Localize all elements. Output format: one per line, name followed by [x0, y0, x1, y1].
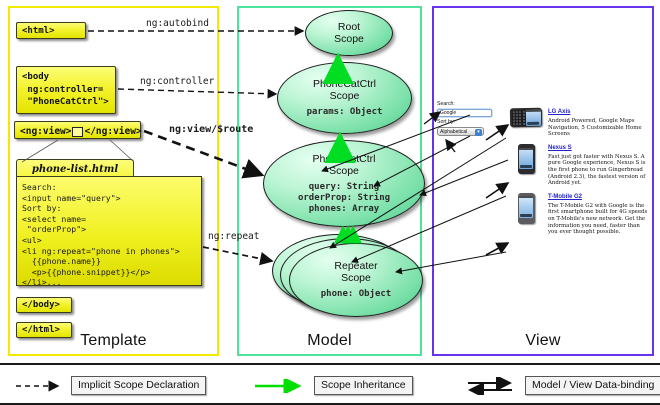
phone-thumbnail-lg-axis: [508, 108, 544, 138]
sort-by-select[interactable]: Alphabetical ▾: [437, 127, 484, 136]
wire-label-ng-autobind: ng:autobind: [146, 18, 209, 29]
phone-info: LG Axis Android Powered, Google Maps Nav…: [544, 108, 650, 138]
list-item[interactable]: Nexus S Fast just got faster with Nexus …: [508, 144, 650, 187]
scope-phonecatctrl-props: params: Object: [307, 107, 383, 118]
list-item[interactable]: LG Axis Android Powered, Google Maps Nav…: [508, 108, 650, 138]
scope-repeater-props: phone: Object: [321, 289, 391, 300]
wire-label-ng-view-route: ng:view/$route: [169, 124, 253, 135]
html-close-tag-box: </html>: [16, 322, 72, 338]
lg-axis-handset-icon: [510, 108, 542, 128]
app-dock: [520, 165, 532, 168]
phone-list: LG Axis Android Powered, Google Maps Nav…: [508, 108, 650, 242]
wire-label-ng-controller: ng:controller: [140, 76, 214, 87]
ngview-tag-box: <ng:view></ng:view>: [14, 121, 141, 139]
legend-item-implicit-scope-declaration: Implicit Scope Declaration: [14, 376, 206, 395]
sort-by-selected-value: Alphabetical: [440, 129, 467, 135]
status-bar: [519, 196, 533, 198]
html-open-tag-box: <html>: [16, 22, 86, 39]
phone-thumbnail-t-mobile-g2: [508, 193, 544, 236]
phone-info: Nexus S Fast just got faster with Nexus …: [544, 144, 650, 187]
scope-repeater: Repeater Scope phone: Object: [289, 243, 423, 317]
legend-label-implicit-scope-declaration: Implicit Scope Declaration: [71, 376, 206, 395]
legend-item-scope-inheritance: Scope Inheritance: [253, 376, 413, 395]
legend-item-data-binding: Model / View Data-binding: [466, 376, 660, 395]
ngview-close-tag: </ng:view>: [84, 126, 141, 137]
ngview-slot-icon: [72, 127, 83, 137]
t-mobile-g2-handset-icon: [518, 193, 535, 224]
handset-screen: [519, 196, 533, 218]
scope-repeater-title: Repeater Scope: [334, 260, 377, 284]
dashed-arrow-icon: [14, 379, 66, 393]
phone-snippet: Android Powered, Google Maps Navigation,…: [548, 118, 650, 138]
wire-label-ng-repeat: ng:repeat: [208, 231, 259, 242]
slideout-keyboard-icon: [511, 110, 525, 126]
scope-phonecatctrl: PhoneCatCtrl Scope params: Object: [277, 62, 412, 134]
phone-list-note-code: Search: <input name="query"> Sort by: <s…: [16, 176, 202, 286]
column-label-model: Model: [239, 332, 420, 350]
phone-name-link[interactable]: LG Axis: [548, 108, 650, 116]
scope-phonecatctrl-title: PhoneCatCtrl Scope: [313, 78, 376, 102]
phone-snippet: Fast just got faster with Nexus S. A pur…: [548, 154, 650, 187]
nexus-s-handset-icon: [518, 144, 535, 174]
handset-screen: [525, 109, 540, 125]
app-dock: [527, 121, 540, 124]
legend-label-data-binding: Model / View Data-binding: [525, 376, 660, 395]
list-item[interactable]: T-Mobile G2 The T-Mobile G2 with Google …: [508, 193, 650, 236]
phone-name-link[interactable]: T-Mobile G2: [548, 193, 650, 201]
legend-label-scope-inheritance: Scope Inheritance: [314, 376, 413, 395]
app-dock: [520, 214, 532, 217]
body-tag-box: <body ng:controller= "PhoneCatCtrl">: [16, 66, 116, 114]
angular-concepts-diagram: Template Model View <html> <body ng:cont…: [0, 0, 660, 405]
body-close-tag-box: </body>: [16, 297, 72, 313]
phone-snippet: The T-Mobile G2 with Google is the first…: [548, 203, 650, 236]
phone-list-note: phone-list.html Search: <input name="que…: [16, 159, 202, 287]
phone-name-link[interactable]: Nexus S: [548, 144, 650, 152]
green-arrow-icon: [253, 379, 309, 393]
ngview-open-tag: <ng:view>: [20, 126, 71, 137]
status-bar: [519, 148, 533, 150]
phone-thumbnail-nexus-s: [508, 144, 544, 187]
chevron-updown-icon: ▾: [475, 129, 482, 136]
search-label: Search:: [437, 101, 497, 108]
divider-top: [0, 363, 660, 365]
search-input[interactable]: Google: [437, 109, 492, 117]
phone-info: T-Mobile G2 The T-Mobile G2 with Google …: [544, 193, 650, 236]
scope-root-title: Root Scope: [334, 21, 364, 45]
scope-phonelistctrl-title: PhoneListCtrl Scope: [312, 153, 375, 177]
sort-by-label: Sort by:: [437, 119, 497, 126]
legend: Implicit Scope Declaration Scope Inherit…: [6, 372, 654, 400]
scope-phonelistctrl-props: query: String orderProp: String phones: …: [298, 182, 390, 215]
scope-phonelistctrl: PhoneListCtrl Scope query: String orderP…: [263, 140, 425, 227]
column-label-view: View: [434, 332, 652, 350]
view-search-form: Search: Google Sort by: Alphabetical ▾: [437, 101, 497, 136]
status-bar: [525, 109, 540, 111]
handset-screen: [519, 148, 533, 169]
scope-root: Root Scope: [305, 10, 393, 56]
double-arrow-icon: [466, 377, 520, 395]
